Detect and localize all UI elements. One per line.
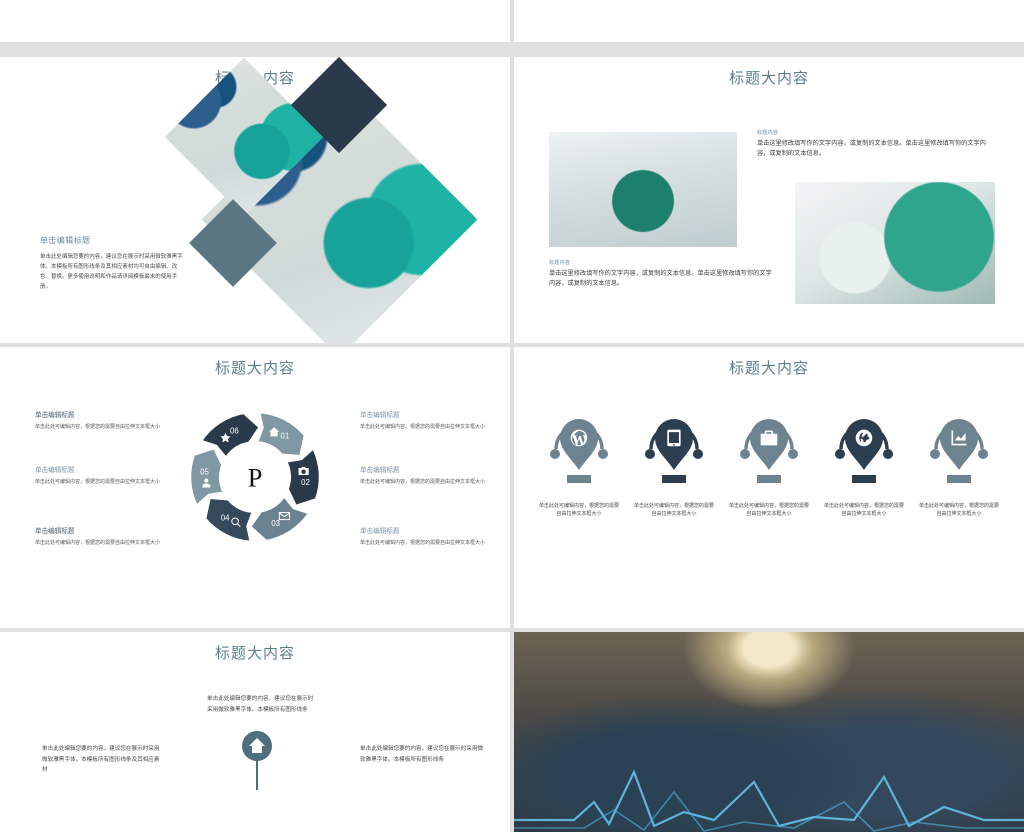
slide2-caption-top: 标题内容 单击这里修改填写你的文字内容，或复制的文本信息。单击这里修改填写你的文… [757,129,995,159]
cycle-left-head-1: 单击编辑标题 [35,409,170,419]
pin-item-1[interactable]: 单击此处可编辑内容，根据您的需要自由拉伸文本框大小 [536,409,622,519]
wheel-number-02: 02 [301,478,310,487]
pin-ring-dot-right [788,449,798,459]
cycle-left-body-2: 单击此处可编辑内容，根据您的需要自由拉伸文本框大小 [35,478,170,487]
cycle-left-item-1: 单击编辑标题 单击此处可编辑内容，根据您的需要自由拉伸文本框大小 [35,409,170,432]
cycle-right-item-1: 单击编辑标题 单击此处可编辑内容，根据您的需要自由拉伸文本框大小 [360,409,495,432]
slide-thumbnail-deck: 完成情况 Lorem ipsum dolor sit amet, consect… [0,0,1024,768]
pin-caption: 单击此处可编辑内容，根据您的需要自由拉伸文本框大小 [821,502,907,519]
cycle-left-head-2: 单击编辑标题 [35,464,170,474]
slide5-top-text: 单击此处编辑您要的内容，建议您在展示时采用微软雅黑字体。本模板所有图形线条 [207,694,317,715]
pin-item-2[interactable]: 单击此处可编辑内容，根据您的需要自由拉伸文本框大小 [631,409,717,519]
wheel-number-06: 06 [230,426,239,435]
slide2-caption-top-head: 标题内容 [757,129,995,136]
cycle-right-body-3: 单击此处可编辑内容，根据您的需要自由拉伸文本框大小 [360,539,495,548]
slide5-right-text: 单击此处编辑您要的内容，建议您在展示时采用微软雅黑字体。本模板所有图形线条 [360,744,485,765]
pin-base-bar [662,475,686,483]
cycle-right-item-2: 单击编辑标题 单击此处可编辑内容，根据您的需要自由拉伸文本框大小 [360,464,495,487]
pin-ring-dot-right [978,449,988,459]
pin-graphic [544,409,614,495]
wheel-segment-05[interactable] [190,448,223,505]
wheel-number-05: 05 [200,467,209,476]
wheel-number-04: 04 [221,514,230,523]
pin-stem [256,760,258,790]
pin-row: 单击此处可编辑内容，根据您的需要自由拉伸文本框大小单击此处可编辑内容，根据您的需… [536,409,1002,519]
cycle-left-body-1: 单击此处可编辑内容，根据您的需要自由拉伸文本框大小 [35,423,170,432]
slide-house-pin[interactable]: 标题大内容 单击此处编辑您要的内容，建议您在展示时采用微软雅黑字体。本模板所有图… [0,632,510,832]
cycle-left-item-2: 单击编辑标题 单击此处可编辑内容，根据您的需要自由拉伸文本框大小 [35,464,170,487]
pin-base-bar [852,475,876,483]
pin-ring-dot-left [835,449,845,459]
cycle-right-body-2: 单击此处可编辑内容，根据您的需要自由拉伸文本框大小 [360,478,495,487]
cycle-right-head-2: 单击编辑标题 [360,464,495,474]
pin-caption: 单击此处可编辑内容，根据您的需要自由拉伸文本框大小 [631,502,717,519]
wheel-number-03: 03 [271,519,280,528]
pin-graphic [829,409,899,495]
slide-surgery-photo[interactable] [514,632,1024,832]
slide2-caption-bottom-head: 标题内容 [549,259,774,266]
diamond-composition [150,57,510,343]
pin-caption: 单击此处可编辑内容，根据您的需要自由拉伸文本框大小 [726,502,812,519]
slide3-title: 标题大内容 [0,347,510,378]
pin-base-bar [947,475,971,483]
slide5-left-text: 单击此处编辑您要的内容，建议您在展示时采用微软雅黑字体。本模板所有图形线条及其相… [42,744,162,776]
slide-cover-right[interactable] [514,0,1024,42]
pin-ring-dot-left [930,449,940,459]
pin-graphic [734,409,804,495]
slide2-title: 标题大内容 [514,57,1024,88]
pin-base-bar [757,475,781,483]
pin-ring-dot-right [883,449,893,459]
slide-cover-left[interactable]: 完成情况 Lorem ipsum dolor sit amet, consect… [0,0,510,42]
cycle-left-body-3: 单击此处可编辑内容，根据您的需要自由拉伸文本框大小 [35,539,170,548]
cycle-left-head-3: 单击编辑标题 [35,525,170,535]
pin-body [560,419,598,470]
cycle-right-head-1: 单击编辑标题 [360,409,495,419]
pin-ring-dot-left [645,449,655,459]
pin-graphic [924,409,994,495]
cycle-right-head-3: 单击编辑标题 [360,525,495,535]
slide2-caption-top-body: 单击这里修改填写你的文字内容，或复制的文本信息。单击这里修改填写你的文字内容，或… [757,139,995,159]
slide5-left-body: 单击此处编辑您要的内容，建议您在展示时采用微软雅黑字体。本模板所有图形线条及其相… [42,744,162,776]
pin-caption: 单击此处可编辑内容，根据您的需要自由拉伸文本框大小 [916,502,1002,519]
photo-surgical-instrument [795,182,995,304]
pin-ring-dot-left [740,449,750,459]
pin-item-5[interactable]: 单击此处可编辑内容，根据您的需要自由拉伸文本框大小 [916,409,1002,519]
slide-two-photos[interactable]: 标题大内容 标题内容 单击这里修改填写你的文字内容，或复制的文本信息。单击这里修… [514,57,1024,343]
slide5-right-body: 单击此处编辑您要的内容，建议您在展示时采用微软雅黑字体。本模板所有图形线条 [360,744,485,765]
ecg-overlay [514,762,1024,832]
pin-caption: 单击此处可编辑内容，根据您的需要自由拉伸文本框大小 [536,502,622,519]
slide4-title: 标题大内容 [514,347,1024,378]
slide2-caption-bottom-body: 单击这里修改填写你的文字内容，或复制的文本信息。单击这里修改填写你的文字内容，或… [549,269,774,289]
slide2-caption-bottom: 标题内容 单击这里修改填写你的文字内容，或复制的文本信息。单击这里修改填写你的文… [549,259,774,289]
house-pin-marker [240,730,274,795]
pin-graphic [639,409,709,495]
pin-item-4[interactable]: 单击此处可编辑内容，根据您的需要自由拉伸文本框大小 [821,409,907,519]
cycle-wheel: 010203040506 P [185,397,325,557]
slide5-title: 标题大内容 [0,632,510,663]
photo-operating-room [549,132,737,247]
cycle-right-item-3: 单击编辑标题 单击此处可编辑内容，根据您的需要自由拉伸文本框大小 [360,525,495,548]
wheel-number-01: 01 [280,432,289,441]
pin-body [655,419,693,470]
cycle-left-item-3: 单击编辑标题 单击此处可编辑内容，根据您的需要自由拉伸文本框大小 [35,525,170,548]
slide-pin-icons[interactable]: 标题大内容 单击此处可编辑内容，根据您的需要自由拉伸文本框大小单击此处可编辑内容… [514,347,1024,628]
pin-ring-dot-left [550,449,560,459]
cycle-right-body-1: 单击此处可编辑内容，根据您的需要自由拉伸文本框大小 [360,423,495,432]
cycle-wheel-svg: 010203040506 P [185,397,325,557]
slide5-top-body: 单击此处编辑您要的内容，建议您在展示时采用微软雅黑字体。本模板所有图形线条 [207,694,317,715]
pin-item-3[interactable]: 单击此处可编辑内容，根据您的需要自由拉伸文本框大小 [726,409,812,519]
slide-diamond-montage[interactable]: 标题大内容 单击编辑标题 单击此处编辑您要的内容，建议您在展示时采用微软雅黑字体… [0,57,510,343]
wheel-center-letter: P [248,464,263,493]
pin-base-bar [567,475,591,483]
pin-ring-dot-right [598,449,608,459]
pin-ring-dot-right [693,449,703,459]
slide-cycle-diagram[interactable]: 标题大内容 单击编辑标题 单击此处可编辑内容，根据您的需要自由拉伸文本框大小 单… [0,347,510,628]
